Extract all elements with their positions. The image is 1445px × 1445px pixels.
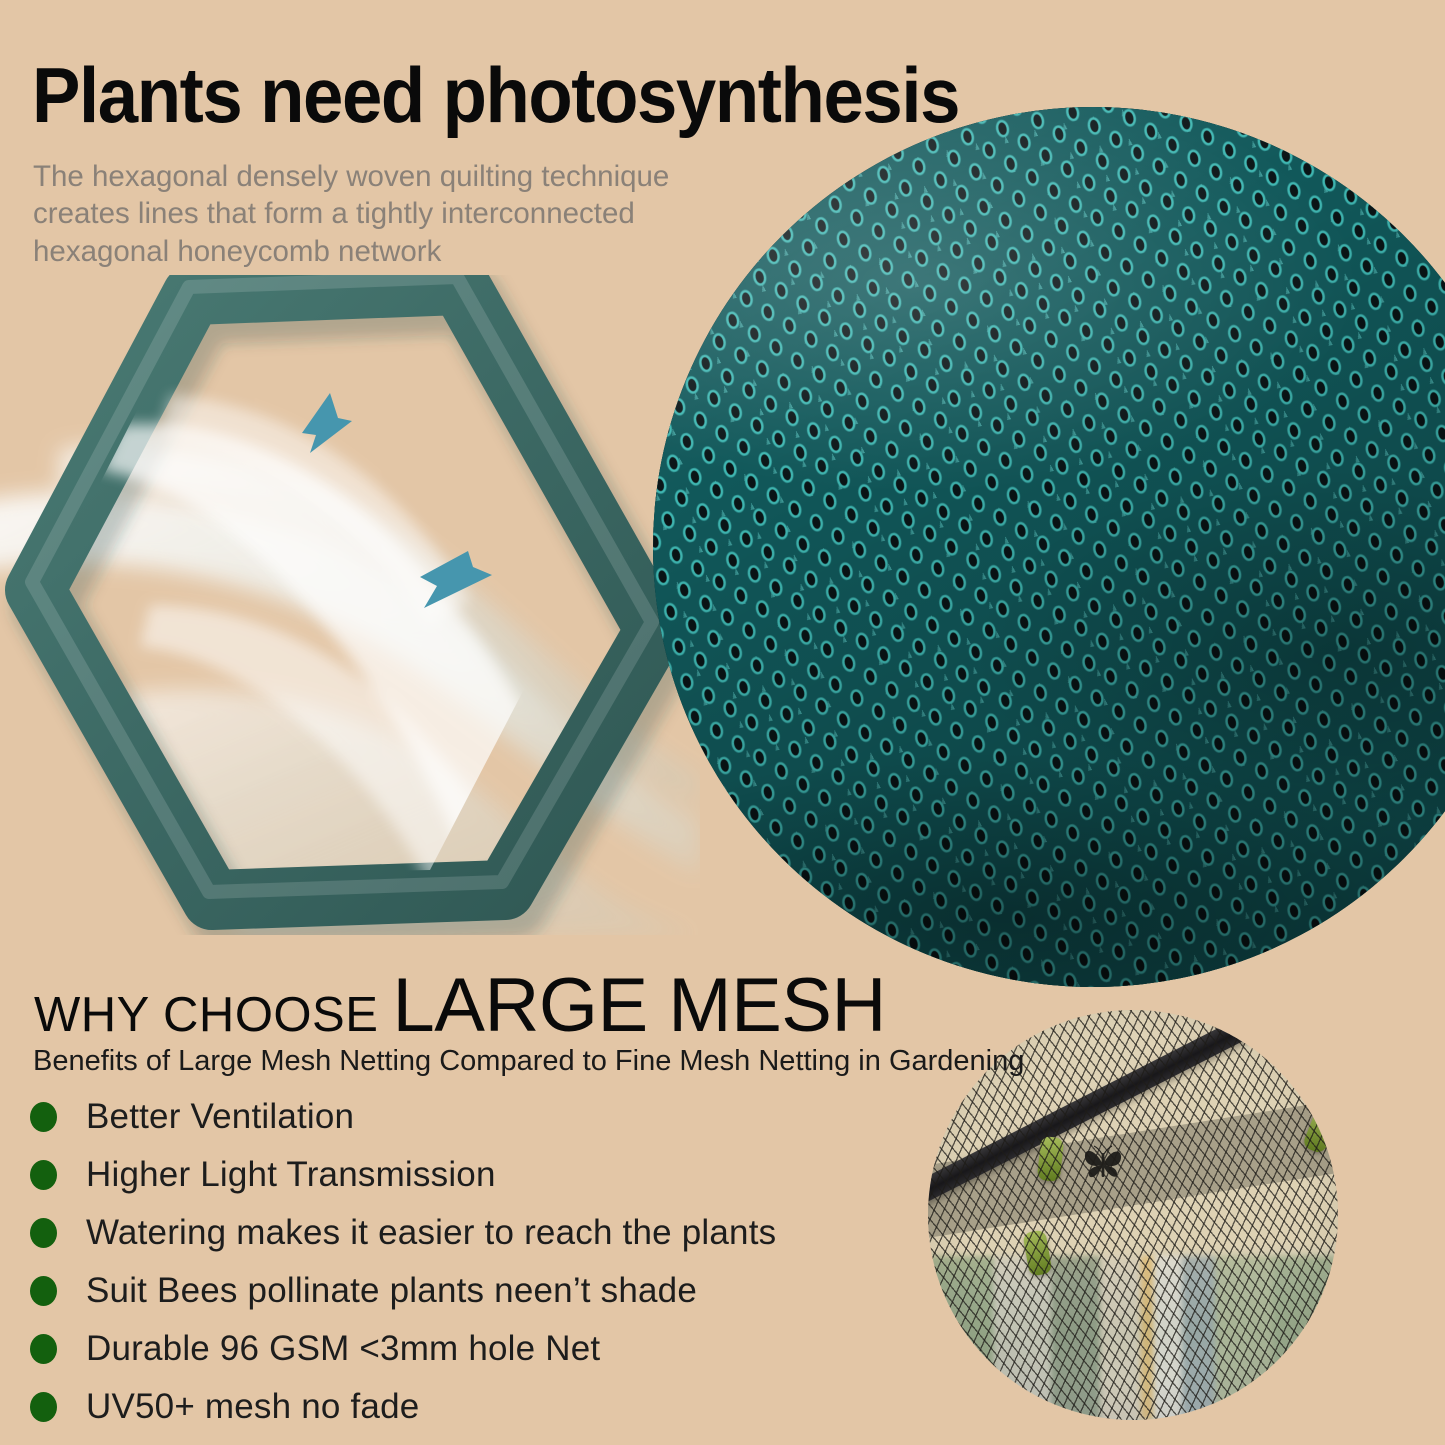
list-item-label: Better Ventilation [86,1097,354,1137]
bullet-dot-icon [30,1334,57,1364]
list-item: Better Ventilation [30,1088,776,1146]
section-title-emphasis: LARGE MESH [393,963,886,1048]
section-title-prefix: WHY CHOOSE [34,988,393,1042]
list-item-label: Watering makes it easier to reach the pl… [86,1213,776,1253]
bullet-dot-icon [30,1218,57,1248]
list-item-label: Suit Bees pollinate plants neen’t shade [86,1271,697,1311]
bullet-dot-icon [30,1160,57,1190]
page-subtitle: The hexagonal densely woven quilting tec… [33,158,753,270]
section-title: WHY CHOOSE LARGE MESH [34,962,886,1049]
list-item-label: Higher Light Transmission [86,1155,496,1195]
bullet-dot-icon [30,1102,57,1132]
page-title: Plants need photosynthesis [32,58,959,132]
benefits-list: Better Ventilation Higher Light Transmis… [30,1088,776,1436]
list-item: UV50+ mesh no fade [30,1378,776,1436]
list-item: Higher Light Transmission [30,1146,776,1204]
bullet-dot-icon [30,1276,57,1306]
list-item: Durable 96 GSM <3mm hole Net [30,1320,776,1378]
bullet-dot-icon [30,1392,57,1422]
hexagon-airflow-illustration [0,275,700,935]
infographic-poster: Plants need photosynthesis The hexagonal… [0,0,1445,1445]
mesh-fabric-photo [653,107,1445,987]
list-item: Watering makes it easier to reach the pl… [30,1204,776,1262]
list-item-label: UV50+ mesh no fade [86,1387,419,1427]
section-subtitle: Benefits of Large Mesh Netting Compared … [33,1045,1024,1078]
list-item-label: Durable 96 GSM <3mm hole Net [86,1329,600,1369]
mesh-vignette [653,107,1445,987]
list-item: Suit Bees pollinate plants neen’t shade [30,1262,776,1320]
